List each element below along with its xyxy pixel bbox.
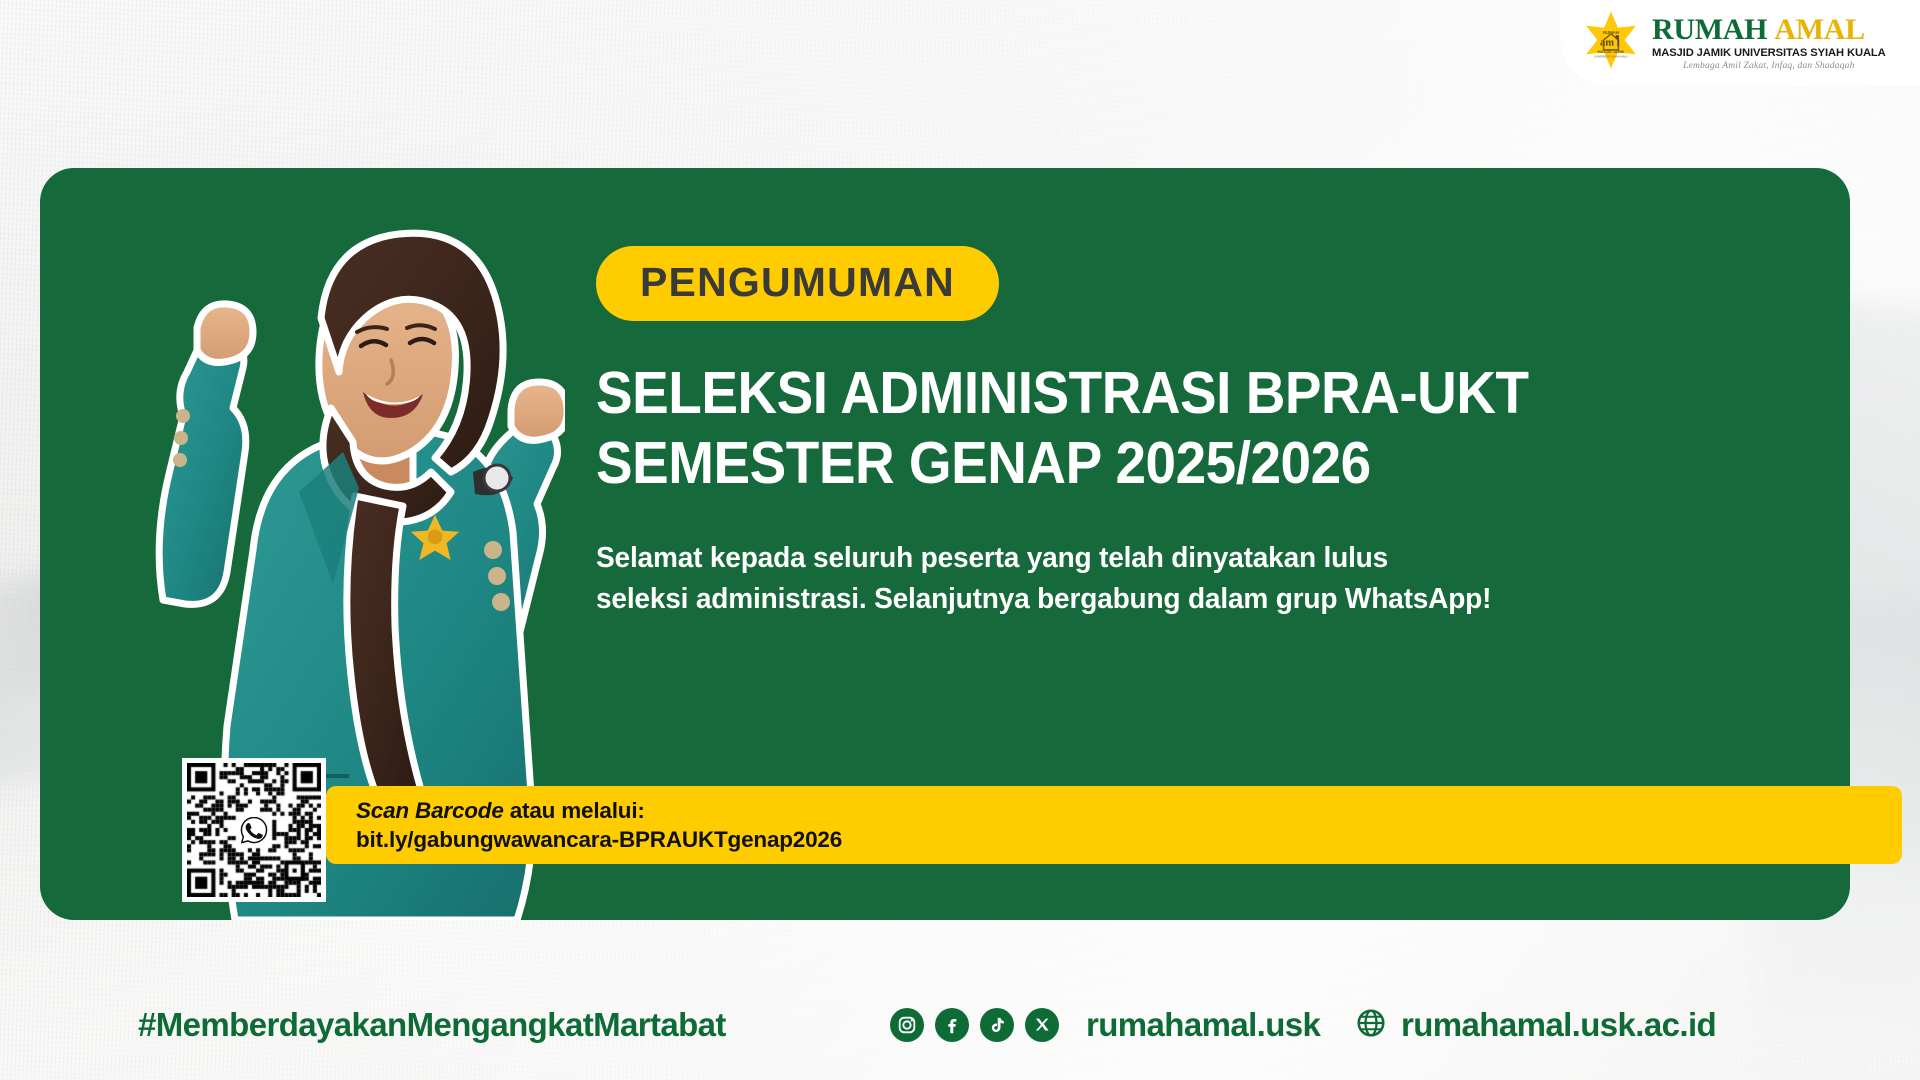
announcement-badge: PENGUMUMAN — [596, 246, 999, 321]
svg-text:am l: am l — [1600, 38, 1620, 49]
footer-bar: #MemberdayakanMengangkatMartabat — [0, 985, 1920, 1065]
qr-code[interactable] — [182, 758, 326, 902]
scan-barcode-text: Scan Barcode atau melalui: bit.ly/gabung… — [356, 796, 842, 855]
website-group: rumahamal.usk.ac.id — [1355, 1006, 1716, 1044]
subtext-line-1: Selamat kepada seluruh peserta yang tela… — [596, 538, 1808, 578]
headline-line-2: SEMESTER GENAP 2025/2026 — [596, 429, 1740, 499]
website-url[interactable]: rumahamal.usk.ac.id — [1401, 1006, 1716, 1044]
scan-barcode-bar: Scan Barcode atau melalui: bit.ly/gabung… — [326, 786, 1902, 864]
subtext-line-2: seleksi administrasi. Selanjutnya bergab… — [596, 579, 1808, 619]
brand-logo-panel: RUMAH am l MASJID JAMIK UNIVERSITAS SYIA… — [1560, 0, 1920, 85]
brand-wordmark: RUMAH AMAL — [1652, 15, 1886, 45]
card-content: PENGUMUMAN SELEKSI ADMINISTRASI BPRA-UKT… — [596, 246, 1826, 619]
announcement-subtext: Selamat kepada seluruh peserta yang tela… — [596, 538, 1808, 619]
brand-subtitle: MASJID JAMIK UNIVERSITAS SYIAH KUALA — [1652, 47, 1886, 59]
announcement-headline: SELEKSI ADMINISTRASI BPRA-UKT SEMESTER G… — [596, 359, 1740, 498]
x-twitter-icon[interactable] — [1025, 1008, 1059, 1042]
svg-text:RUMAH: RUMAH — [1603, 30, 1619, 35]
globe-icon — [1355, 1007, 1387, 1044]
social-media-group: rumahamal.usk — [890, 1006, 1320, 1044]
brand-word-amal: AMAL — [1774, 13, 1864, 46]
announcement-card: PENGUMUMAN SELEKSI ADMINISTRASI BPRA-UKT… — [40, 168, 1850, 920]
poster-canvas: RUMAH am l MASJID JAMIK UNIVERSITAS SYIA… — [0, 0, 1920, 1080]
brand-tagline: Lembaga Amil Zakat, Infaq, dan Shadaqah — [1652, 61, 1886, 71]
social-handle[interactable]: rumahamal.usk — [1086, 1006, 1320, 1044]
campaign-hashtag: #MemberdayakanMengangkatMartabat — [138, 1006, 726, 1044]
scan-emphasis-text: Scan Barcode — [356, 798, 504, 823]
scan-instruction-line: Scan Barcode atau melalui: — [356, 796, 842, 825]
rumah-amal-star-logo-icon: RUMAH am l MASJID JAMIK UNIVERSITAS SYIA… — [1580, 9, 1642, 71]
facebook-icon[interactable] — [935, 1008, 969, 1042]
svg-text:UNIVERSITAS SYIAH KUALA: UNIVERSITAS SYIAH KUALA — [1594, 55, 1628, 58]
scan-rest-text: atau melalui: — [504, 798, 645, 823]
svg-text:MASJID JAMIK: MASJID JAMIK — [1598, 50, 1625, 54]
tiktok-icon[interactable] — [980, 1008, 1014, 1042]
headline-line-1: SELEKSI ADMINISTRASI BPRA-UKT — [596, 359, 1740, 429]
registration-link[interactable]: bit.ly/gabungwawancara-BPRAUKTgenap2026 — [356, 825, 842, 854]
brand-word-rumah: RUMAH — [1652, 13, 1767, 46]
instagram-icon[interactable] — [890, 1008, 924, 1042]
whatsapp-icon — [237, 813, 271, 847]
brand-logo-text: RUMAH AMAL MASJID JAMIK UNIVERSITAS SYIA… — [1652, 15, 1886, 73]
